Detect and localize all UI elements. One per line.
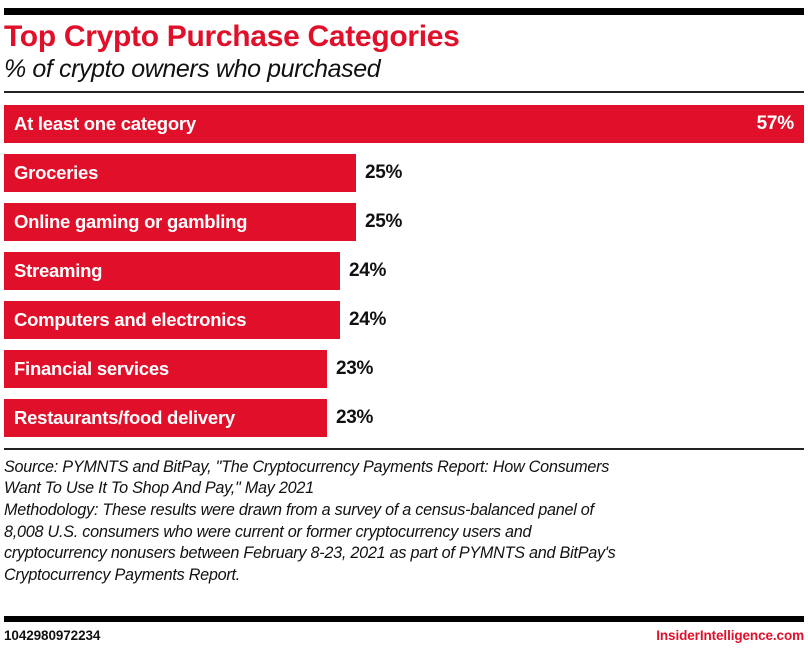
bar-row: Financial services23% bbox=[4, 350, 804, 388]
bar-category-label: Groceries bbox=[4, 162, 98, 184]
note-line: Source: PYMNTS and BitPay, "The Cryptocu… bbox=[4, 457, 804, 479]
top-divider bbox=[4, 8, 804, 15]
bar-category-label: Online gaming or gambling bbox=[4, 211, 247, 233]
bar: Restaurants/food delivery bbox=[4, 399, 327, 437]
bar: At least one category57% bbox=[4, 105, 804, 143]
bar-category-label: Financial services bbox=[4, 358, 169, 380]
bar-category-label: Restaurants/food delivery bbox=[4, 407, 235, 429]
note-line: cryptocurrency nonusers between February… bbox=[4, 543, 804, 565]
bar-chart: At least one category57%Groceries25%Onli… bbox=[4, 105, 804, 437]
bar-row: Online gaming or gambling25% bbox=[4, 203, 804, 241]
bar-value-label: 25% bbox=[356, 162, 402, 184]
chart-footer: 1042980972234 InsiderIntelligence.com bbox=[4, 628, 804, 643]
bar: Streaming bbox=[4, 252, 340, 290]
bar: Online gaming or gambling bbox=[4, 203, 356, 241]
bar-row: Groceries25% bbox=[4, 154, 804, 192]
bar-row: Streaming24% bbox=[4, 252, 804, 290]
footer-brand[interactable]: InsiderIntelligence.com bbox=[656, 628, 804, 643]
bar-category-label: Streaming bbox=[4, 260, 102, 282]
bar-value-label: 24% bbox=[340, 309, 386, 331]
bar-category-label: At least one category bbox=[4, 113, 196, 135]
bar-value-label: 57% bbox=[757, 113, 794, 135]
chart-title: Top Crypto Purchase Categories bbox=[4, 20, 804, 54]
chart-notes: Source: PYMNTS and BitPay, "The Cryptocu… bbox=[4, 450, 804, 586]
chart-subtitle: % of crypto owners who purchased bbox=[4, 55, 804, 84]
bar-value-label: 23% bbox=[327, 358, 373, 380]
bar-row: Computers and electronics24% bbox=[4, 301, 804, 339]
footer-id: 1042980972234 bbox=[4, 628, 100, 643]
chart-page: Top Crypto Purchase Categories % of cryp… bbox=[0, 8, 808, 655]
header-divider bbox=[4, 91, 804, 93]
bar-row: Restaurants/food delivery23% bbox=[4, 399, 804, 437]
bar-category-label: Computers and electronics bbox=[4, 309, 246, 331]
bar-value-label: 25% bbox=[356, 211, 402, 233]
footer-divider bbox=[4, 616, 804, 622]
bar: Computers and electronics bbox=[4, 301, 340, 339]
bar: Groceries bbox=[4, 154, 356, 192]
note-line: Methodology: These results were drawn fr… bbox=[4, 500, 804, 522]
bar-row: At least one category57% bbox=[4, 105, 804, 143]
bar-value-label: 24% bbox=[340, 260, 386, 282]
note-line: Cryptocurrency Payments Report. bbox=[4, 565, 804, 587]
bar: Financial services bbox=[4, 350, 327, 388]
note-line: 8,008 U.S. consumers who were current or… bbox=[4, 522, 804, 544]
chart-header: Top Crypto Purchase Categories % of cryp… bbox=[4, 15, 804, 84]
note-line: Want To Use It To Shop And Pay," May 202… bbox=[4, 478, 804, 500]
bar-value-label: 23% bbox=[327, 407, 373, 429]
